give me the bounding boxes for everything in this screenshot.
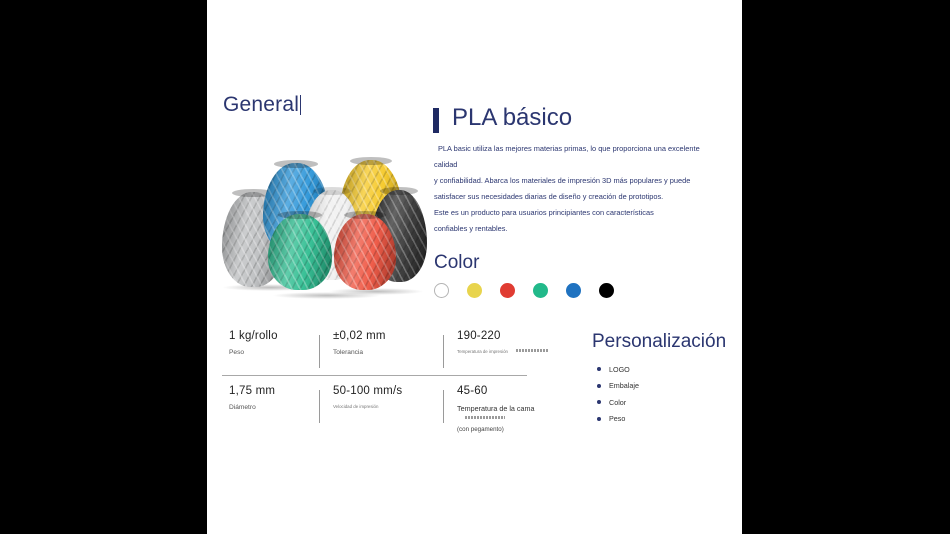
micro-rule xyxy=(516,349,548,352)
column-divider xyxy=(443,335,444,368)
description-line-5: confiables y rentables. xyxy=(434,221,723,237)
color-swatch-yellow[interactable] xyxy=(467,283,482,298)
list-item: LOGO xyxy=(597,361,639,378)
spec-bed-temp-value: 45-60 xyxy=(457,385,582,397)
spec-diameter-value: 1,75 mm xyxy=(229,385,319,397)
personalization-item-logo: LOGO xyxy=(609,365,630,374)
specs-row-2: 1,75 mm Diámetro 50-100 mm/s Velocidad d… xyxy=(215,385,535,435)
product-image xyxy=(216,152,426,307)
spec-tolerance-label: Tolerancia xyxy=(333,349,443,356)
general-heading-text: General xyxy=(223,93,299,116)
personalization-item-peso: Peso xyxy=(609,414,625,423)
spec-diameter: 1,75 mm Diámetro xyxy=(215,385,319,435)
column-divider xyxy=(443,390,444,423)
spec-print-temp: 190-220 Temperatura de impresión xyxy=(443,330,582,372)
personalization-list: LOGO Embalaje Color Peso xyxy=(597,361,639,427)
list-item: Peso xyxy=(597,411,639,428)
spec-print-temp-value: 190-220 xyxy=(457,330,582,342)
bullet-icon xyxy=(597,400,601,404)
color-swatch-red[interactable] xyxy=(500,283,515,298)
description-line-2: y confiabilidad. Abarca los materiales d… xyxy=(434,173,723,189)
description-line-4: Este es un producto para usuarios princi… xyxy=(434,205,723,221)
spec-tolerance: ±0,02 mm Tolerancia xyxy=(319,330,443,372)
color-swatch-teal[interactable] xyxy=(533,283,548,298)
page-title: General xyxy=(223,93,301,117)
description-line-3: satisfacer sus necesidades diarias de di… xyxy=(434,189,723,205)
bullet-icon xyxy=(597,384,601,388)
spec-bed-temp-sublabel: (con pegamento) xyxy=(457,426,582,433)
list-item: Color xyxy=(597,394,639,411)
row-divider xyxy=(222,375,527,376)
color-swatch-list xyxy=(434,283,614,298)
color-section-title: Color xyxy=(434,252,479,274)
list-item: Embalaje xyxy=(597,378,639,395)
product-description: PLA basic utiliza las mejores materias p… xyxy=(434,141,723,237)
spec-bed-temp-label: Temperatura de la cama xyxy=(457,404,582,422)
personalization-item-embalaje: Embalaje xyxy=(609,381,639,390)
spec-print-speed: 50-100 mm/s Velocidad de impresión xyxy=(319,385,443,435)
column-divider xyxy=(319,335,320,368)
color-swatch-black[interactable] xyxy=(599,283,614,298)
title-accent-bar xyxy=(433,108,439,133)
micro-rule xyxy=(465,416,505,419)
spec-weight-label: Peso xyxy=(229,349,319,356)
spec-weight-value: 1 kg/rollo xyxy=(229,330,319,342)
color-swatch-blue[interactable] xyxy=(566,283,581,298)
vase-green xyxy=(268,214,332,290)
screenshot-canvas: General xyxy=(0,0,950,534)
spec-print-temp-label: Temperatura de impresión xyxy=(457,349,582,354)
bullet-icon xyxy=(597,417,601,421)
spec-print-speed-value: 50-100 mm/s xyxy=(333,385,443,397)
specs-table: 1 kg/rollo Peso ±0,02 mm Tolerancia 190-… xyxy=(215,330,535,435)
vase-red xyxy=(334,214,396,290)
color-swatch-white[interactable] xyxy=(434,283,449,298)
description-line-1: PLA basic utiliza las mejores materias p… xyxy=(434,141,723,173)
document-page: General xyxy=(207,0,742,534)
personalization-title: Personalización xyxy=(592,331,726,353)
spec-tolerance-value: ±0,02 mm xyxy=(333,330,443,342)
personalization-item-color: Color xyxy=(609,398,626,407)
spec-diameter-label: Diámetro xyxy=(229,404,319,411)
column-divider xyxy=(319,390,320,423)
product-title: PLA básico xyxy=(452,104,572,132)
spec-print-speed-label: Velocidad de impresión xyxy=(333,404,443,409)
text-caret xyxy=(300,95,301,115)
spec-weight: 1 kg/rollo Peso xyxy=(215,330,319,372)
spec-bed-temp: 45-60 Temperatura de la cama (con pegame… xyxy=(443,385,582,435)
bullet-icon xyxy=(597,367,601,371)
specs-row-1: 1 kg/rollo Peso ±0,02 mm Tolerancia 190-… xyxy=(215,330,535,372)
